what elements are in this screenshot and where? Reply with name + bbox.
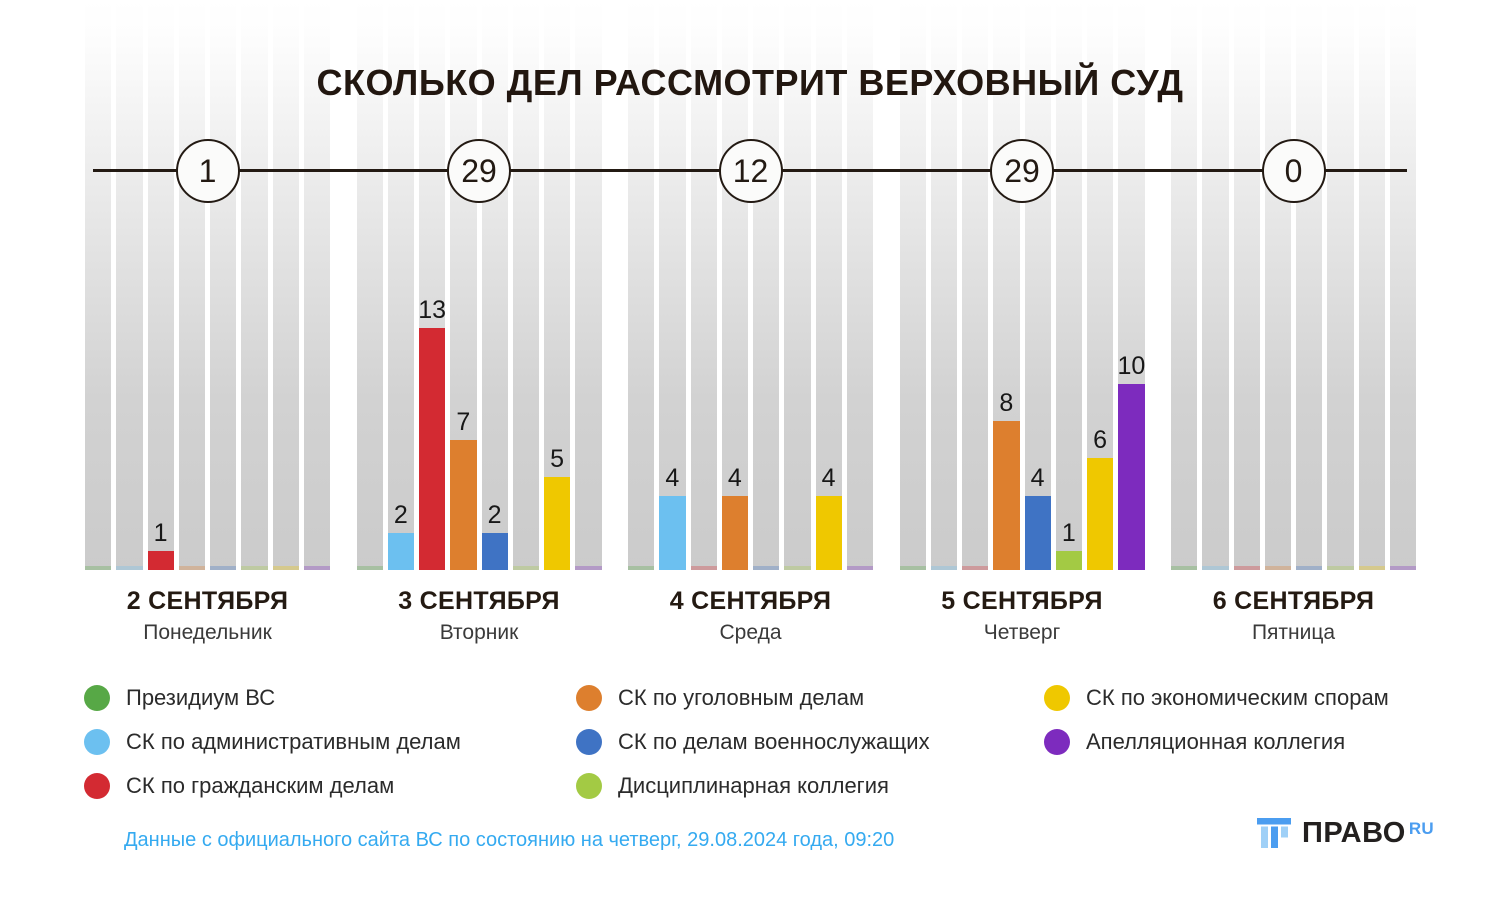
day-date-label: 5 СЕНТЯБРЯ — [872, 588, 1172, 616]
bar — [816, 496, 842, 570]
legend-column: СК по уголовным деламСК по делам военнос… — [576, 676, 930, 808]
bar-value-label: 5 — [532, 445, 582, 474]
bar-value-label: 4 — [804, 464, 854, 493]
legend-item[interactable]: СК по гражданским делам — [84, 764, 461, 808]
legend-item[interactable]: СК по делам военнослужащих — [576, 720, 930, 764]
day-caption: 5 СЕНТЯБРЯЧетверг — [872, 588, 1172, 644]
bar — [1087, 458, 1113, 570]
legend-label: СК по экономическим спорам — [1086, 685, 1389, 711]
bar — [419, 328, 445, 570]
legend-item[interactable]: СК по уголовным делам — [576, 676, 930, 720]
bar — [1118, 384, 1144, 570]
day-weekday-label: Четверг — [872, 621, 1172, 644]
bar-value-label: 4 — [710, 464, 760, 493]
pravo-mark-icon — [1257, 818, 1291, 848]
legend-label: СК по делам военнослужащих — [618, 729, 930, 755]
legend-item[interactable]: Дисциплинарная коллегия — [576, 764, 930, 808]
day-caption: 3 СЕНТЯБРЯВторник — [329, 588, 629, 644]
legend-label: СК по уголовным делам — [618, 685, 864, 711]
day-weekday-label: Вторник — [329, 621, 629, 644]
day-caption: 4 СЕНТЯБРЯСреда — [601, 588, 901, 644]
day-date-label: 2 СЕНТЯБРЯ — [58, 588, 358, 616]
bar — [388, 533, 414, 570]
day-date-label: 6 СЕНТЯБРЯ — [1144, 588, 1444, 616]
bar — [544, 477, 570, 570]
day-weekday-label: Понедельник — [58, 621, 358, 644]
legend-color-dot — [576, 729, 602, 755]
legend-color-dot — [576, 685, 602, 711]
day-date-label: 3 СЕНТЯБРЯ — [329, 588, 629, 616]
source-note: Данные с официального сайта ВС по состоя… — [124, 829, 894, 852]
legend-item[interactable]: Президиум ВС — [84, 676, 461, 720]
day-weekday-label: Среда — [601, 621, 901, 644]
bar-value-label: 4 — [1013, 464, 1063, 493]
bar-value-label: 1 — [136, 519, 186, 548]
bar-value-label: 4 — [647, 464, 697, 493]
logo-text: ПРАВО — [1302, 819, 1406, 848]
logo-suffix: RU — [1409, 819, 1434, 839]
bar — [1056, 551, 1082, 570]
legend-label: СК по гражданским делам — [126, 773, 394, 799]
day-caption: 2 СЕНТЯБРЯПонедельник — [58, 588, 358, 644]
legend-color-dot — [84, 773, 110, 799]
legend-item[interactable]: Апелляционная коллегия — [1044, 720, 1389, 764]
legend-label: Апелляционная коллегия — [1086, 729, 1345, 755]
legend-color-dot — [84, 685, 110, 711]
legend-color-dot — [84, 729, 110, 755]
day-caption: 6 СЕНТЯБРЯПятница — [1144, 588, 1444, 644]
legend-color-dot — [1044, 729, 1070, 755]
bar — [482, 533, 508, 570]
infographic-root: СКОЛЬКО ДЕЛ РАССМОТРИТ ВЕРХОВНЫЙ СУД 129… — [0, 0, 1500, 905]
bar-value-label: 10 — [1106, 352, 1156, 381]
bar-value-label: 13 — [407, 296, 457, 325]
bar-value-label: 8 — [981, 389, 1031, 418]
legend-column: Президиум ВССК по административным делам… — [84, 676, 461, 808]
bars-layer: 1213725444841610 — [0, 0, 1500, 570]
bar — [148, 551, 174, 570]
legend-label: СК по административным делам — [126, 729, 461, 755]
day-date-label: 4 СЕНТЯБРЯ — [601, 588, 901, 616]
legend-label: Дисциплинарная коллегия — [618, 773, 889, 799]
bar — [993, 421, 1019, 570]
legend-label: Президиум ВС — [126, 685, 275, 711]
bar-value-label: 2 — [470, 501, 520, 530]
bar — [722, 496, 748, 570]
bar — [659, 496, 685, 570]
bar-value-label: 7 — [438, 408, 488, 437]
legend-item[interactable]: СК по административным делам — [84, 720, 461, 764]
legend-color-dot — [576, 773, 602, 799]
legend-color-dot — [1044, 685, 1070, 711]
legend-column: СК по экономическим спорамАпелляционная … — [1044, 676, 1389, 764]
day-weekday-label: Пятница — [1144, 621, 1444, 644]
pravo-logo[interactable]: ПРАВО RU — [1257, 818, 1434, 848]
legend-item[interactable]: СК по экономическим спорам — [1044, 676, 1389, 720]
